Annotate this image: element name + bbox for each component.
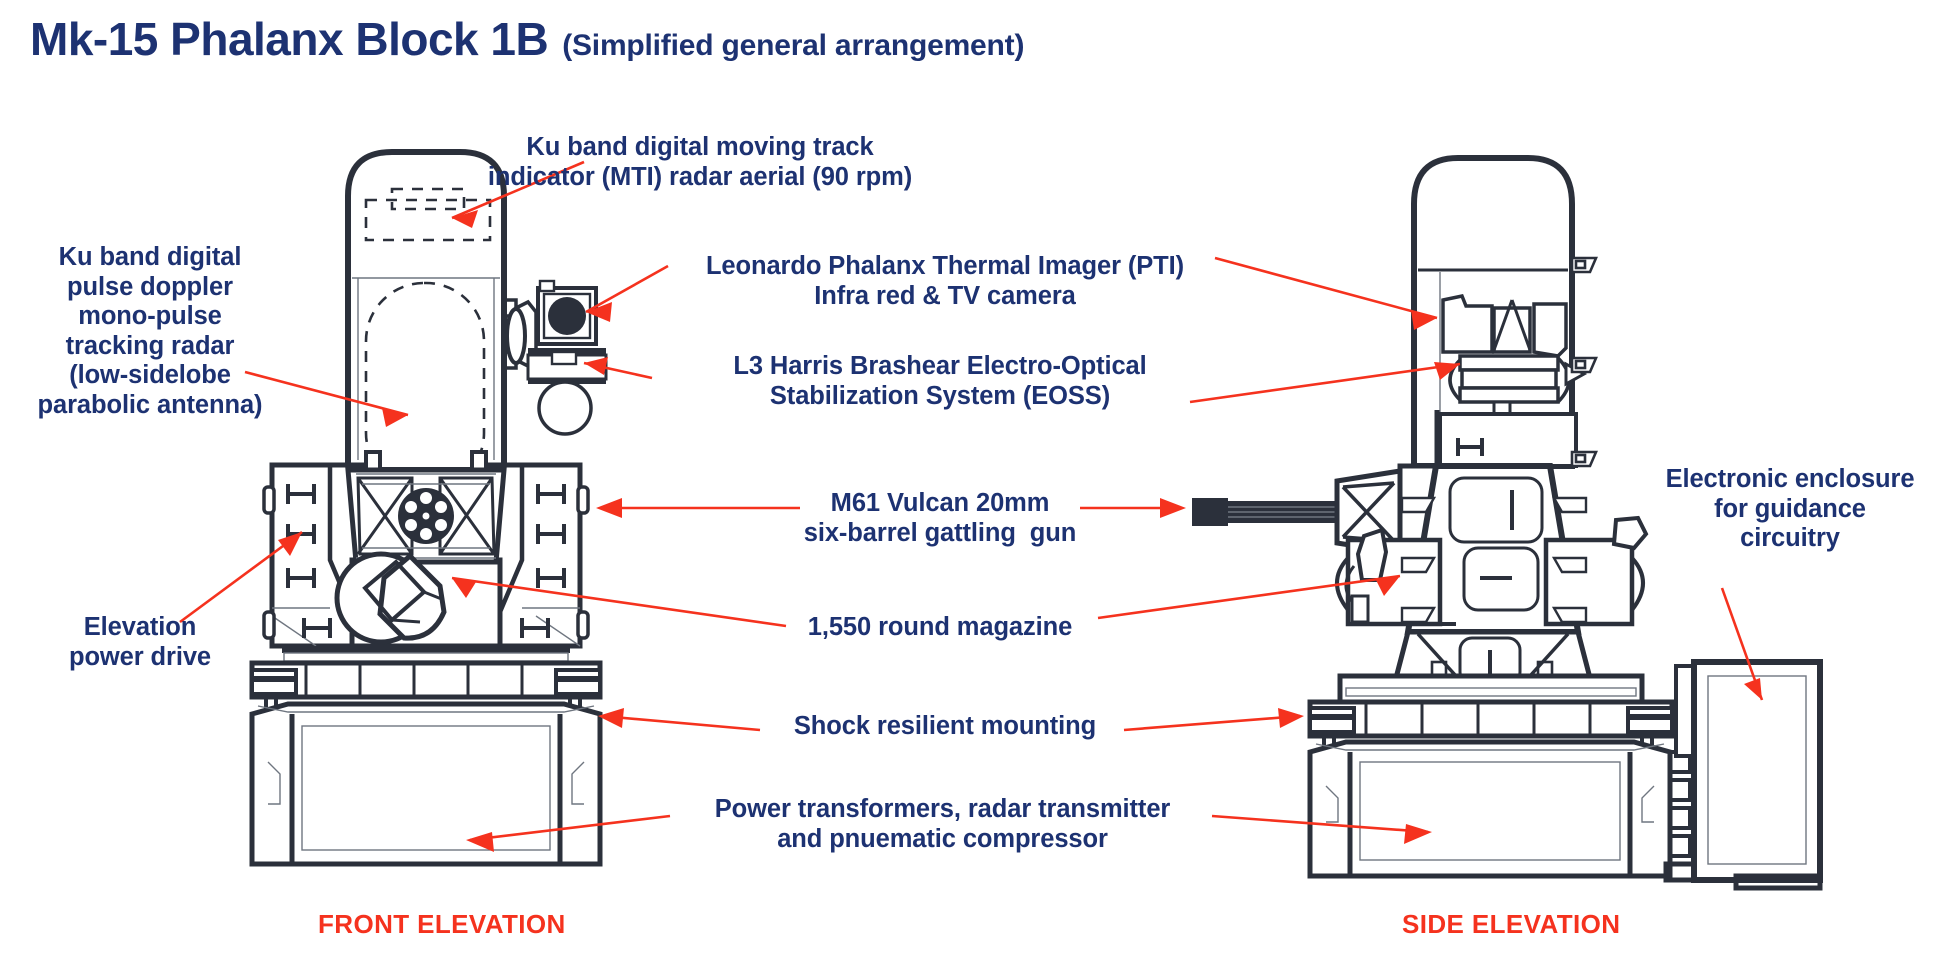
caption-side-elevation: SIDE ELEVATION (1402, 909, 1620, 940)
side-deck-ring (1310, 702, 1672, 736)
leader-pti-side (1215, 258, 1437, 318)
side-base-plate (1310, 676, 1672, 736)
front-base-bar-mid (284, 653, 568, 661)
front-base-plate (252, 646, 600, 697)
side-magazine-feed-horn (1358, 530, 1386, 580)
pti-top-tab (540, 281, 554, 291)
front-elevation-drawing (252, 152, 606, 864)
leader-pti (586, 266, 668, 312)
front-gun-mount-assembly (348, 470, 504, 562)
eoss-window (552, 352, 576, 364)
side-transmitter-block (1440, 414, 1576, 466)
front-deck-ring (252, 663, 600, 697)
caption-front-elevation: FRONT ELEVATION (318, 909, 566, 940)
callout-electronic-enclosure: Electronic enclosure for guidance circui… (1645, 465, 1935, 554)
callout-power-transformers: Power transformers, radar transmitter an… (670, 795, 1215, 854)
callout-thermal-imager: Leonardo Phalanx Thermal Imager (PTI) In… (665, 252, 1225, 311)
side-eoss-top-plate (1460, 356, 1558, 370)
eo-gimbal-ellipse (507, 309, 525, 363)
leader-gun-right-arrowhead (1160, 498, 1186, 518)
side-equipment-cabinet (1310, 742, 1670, 876)
side-base-bar (1340, 676, 1642, 702)
front-right-shock-pad (558, 676, 598, 682)
side-magazine-link-chute (1352, 596, 1368, 622)
side-eoss-bottom-plate (1460, 388, 1558, 402)
side-muzzle-block (1192, 498, 1228, 526)
front-cabinet-outline (252, 704, 600, 864)
callout-vulcan-gun: M61 Vulcan 20mm six-barrel gattling gun (790, 489, 1090, 548)
callout-shock-mounting: Shock resilient mounting (760, 712, 1130, 742)
side-right-unit (1534, 304, 1566, 356)
side-right-feed-horn (1614, 518, 1646, 548)
diagram-canvas: Mk-15 Phalanx Block 1B (Simplified gener… (0, 0, 1938, 964)
callout-elevation-power-drive: Elevation power drive (30, 613, 250, 672)
side-left-shock-pad (1312, 714, 1352, 720)
callout-tracking-radar: Ku band digital pulse doppler mono-pulse… (10, 243, 290, 420)
side-pti-unit (1443, 296, 1492, 352)
front-base-bar-top (282, 646, 570, 653)
leader-shock-right-arrowhead (1278, 708, 1304, 728)
callout-eoss: L3 Harris Brashear Electro-Optical Stabi… (690, 352, 1190, 411)
leader-shock-left (602, 716, 760, 730)
side-eoss-body (1462, 370, 1556, 388)
electronic-enclosure-cabinet (1666, 662, 1820, 888)
front-left-shock-pad (254, 676, 294, 682)
eoss-lower-dome (539, 382, 591, 434)
side-center-unit (1494, 308, 1530, 352)
callout-mti-aerial: Ku band digital moving track indicator (… (450, 133, 950, 192)
callout-magazine: 1,550 round magazine (790, 613, 1090, 643)
enclosure-cable-brackets (1670, 752, 1690, 856)
front-equipment-cabinet (252, 704, 600, 864)
pti-camera-lens (548, 297, 586, 335)
leader-shock-right (1124, 716, 1300, 730)
leader-gun-left-arrowhead (596, 498, 622, 518)
side-right-shock-pad (1630, 714, 1670, 720)
front-eo-sensor-assembly (506, 281, 606, 434)
